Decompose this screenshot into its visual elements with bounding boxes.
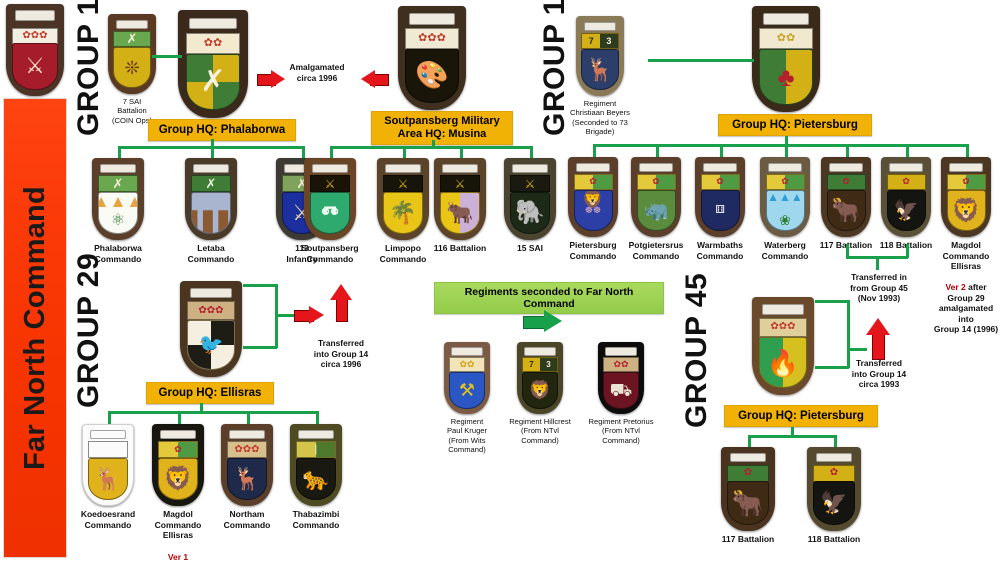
crossed-swords-icon: ⚔ [13, 44, 56, 89]
rhino-icon: 🦏 [638, 191, 675, 231]
unit-waterberg-commando: ✿ ▲▲▲ ❀ Waterberg Commando [755, 157, 815, 261]
connector-hq14-drop-5 [846, 144, 849, 157]
connector-g45-mid [847, 348, 867, 351]
shield-slot [762, 304, 804, 315]
shield-band: ✿ [766, 174, 805, 190]
protea-icon: ✿ [948, 175, 985, 189]
unit-caption: Magdol Commando Ellisras [155, 509, 202, 541]
shield-slot [949, 163, 983, 172]
flame-icon: 🔥 [760, 338, 806, 387]
shield-inner: 🐂 [440, 192, 481, 235]
unit-caption: 7 SAI Battalion (COIN Ops) [112, 97, 152, 125]
group-title-45: GROUP 45 [680, 273, 714, 428]
connector-musina-bus [330, 146, 532, 149]
unit-caption: Phalaborwa Commando [94, 243, 142, 264]
connector-g45-top [815, 300, 849, 303]
connector-hq13-drop-1 [118, 146, 121, 158]
unit-pietersburg-commando: ✿ 🦁 ☸☸ Pietersburg Commando [563, 157, 623, 261]
unit-warmbaths-commando: ✿ ⚅ Warmbaths Commando [690, 157, 750, 261]
group-title-29: GROUP 29 [72, 253, 106, 408]
unit-tail-note: Group 29 amalgamated into Group 14 (1996… [934, 293, 998, 335]
shield-inner: 🐆 [296, 458, 337, 501]
emblem-icon: ⚔ [511, 176, 550, 191]
connector-hq14-drop-6 [906, 144, 909, 157]
crossed-pickaxes-icon: ⚒ [450, 373, 484, 408]
eagle-icon: 🦅 [814, 482, 854, 524]
connector-hq14-drop-4 [785, 144, 788, 157]
hq-label-pietersburg-14: Group HQ: Pietersburg [718, 114, 872, 136]
shield-slot [816, 453, 853, 463]
unit-caption: 118 Battalion [808, 534, 860, 545]
shield-band: ❘ [296, 441, 337, 458]
rings-icon: ⚈⚈ [311, 193, 350, 234]
hq-label-musina-line2: Area HQ: Musina [380, 128, 504, 141]
connector-hq14-bus [593, 144, 968, 147]
shield-band: ✿ [637, 174, 676, 190]
unit-caption: Potgietersrus Commando [629, 240, 684, 261]
palm-tree-icon: 🌴 [384, 193, 423, 234]
connector-ellisras-drop-3 [247, 411, 250, 425]
arrow-head [309, 306, 324, 324]
unit-caption: 116 Battalion [434, 243, 486, 254]
hq-label-phalaborwa: Group HQ: Phalaborwa [148, 119, 296, 141]
buffalo-head-icon: 🐂 [441, 193, 480, 234]
protea-icon: ✿ [702, 175, 739, 189]
numeral-3: 3 [600, 34, 618, 48]
connector-musina-drop-2 [403, 146, 406, 158]
ver-suffix: after [966, 282, 987, 292]
shield-inner: 🦌 [227, 458, 268, 501]
birds-icon: 🐦 [188, 321, 234, 369]
bull-head-icon: 🐂 [828, 191, 865, 231]
arrow-head [271, 70, 285, 88]
connector-musina-drop-3 [460, 146, 463, 158]
badge-soutpansberg-hq: ✿✿✿ 🎨 [398, 6, 466, 110]
arrow-right-amalgamated [257, 70, 287, 88]
shield-slot [584, 22, 617, 31]
crossed-spears-icon: ✗ [192, 176, 231, 191]
shield-inner: 🦅 [813, 481, 855, 525]
shield-slot [193, 164, 228, 173]
shield-band: ✿✿✿ [759, 318, 807, 338]
arrow-head [330, 284, 352, 300]
unit-thabazimbi-commando: ❘ 🐆 Thabazimbi Commando [285, 424, 347, 530]
unit-regiment-hillcrest: 7 3 🦁 Regiment Hillcrest (From NTvl Comm… [507, 342, 573, 445]
shield-slot [730, 453, 767, 463]
protea-flowers-icon: ✿✿✿ [13, 29, 56, 43]
shield-inner: 🦁 ☸☸ [574, 190, 613, 232]
shield-slot [768, 163, 802, 172]
arrow-right-transfer-g29 [294, 306, 326, 324]
shield-inner: 🐦 [187, 320, 235, 370]
shield-slot [312, 164, 347, 173]
shield-band: ✿ [701, 174, 740, 190]
badge-group45-hq: ✿✿✿ 🔥 [752, 297, 814, 395]
connector-hq14-drop-3 [720, 144, 723, 157]
unit-caption: Regiment Hillcrest (From NTvl Command) [509, 417, 571, 445]
shield-inner: 🦁 [947, 190, 986, 232]
connector-hq45-bus [748, 435, 836, 438]
shield-band: ✿ [574, 174, 613, 190]
shield-inner: 🐘 [510, 192, 551, 235]
numeral-7: 7 [582, 34, 600, 48]
shield-band: ✿✿ [449, 357, 485, 372]
protea-flowers-icon: ✿✿✿ [760, 319, 806, 337]
antelope-head-icon: 🦌 [228, 459, 267, 500]
unit-caption: Regiment Pretorius (From NTvl Command) [589, 417, 654, 445]
shield-band: ✿✿ [603, 357, 639, 372]
unit-caption: 117 Battalion [722, 534, 774, 545]
shield-band: ✿✿ [759, 28, 812, 49]
shield-inner: 🦌 [581, 49, 618, 91]
unit-regiment-pretorius: ✿✿ ⛟ Regiment Pretorius (From NTvl Comma… [588, 342, 654, 445]
protea-icon: ✿ [767, 175, 804, 189]
shield-inner: 🔥 [759, 337, 807, 388]
arrow-up-transfer-g45 [866, 318, 890, 360]
arrow-right-seconded [523, 310, 565, 332]
far-north-command-banner: Far North Command [3, 98, 67, 558]
connector-g29-mid [275, 314, 295, 317]
protea-flowers-icon: ✿✿ [187, 34, 240, 53]
shield-band: 7 3 [522, 357, 558, 372]
shield-band: ✿ [158, 441, 199, 458]
shield-inner: ⚒ [449, 372, 485, 409]
shield-inner: ▁ ⚈⚈ [310, 192, 351, 235]
unit-caption: Magdol Commando Ellisras [943, 240, 990, 272]
shield-inner: ⚅ [701, 190, 740, 232]
shield-inner: ▲▲▲ ❀ [766, 190, 805, 232]
lion-passant-icon: 🦁 [523, 373, 557, 408]
shield-slot [605, 347, 636, 355]
protea-icon: ✿ [728, 466, 768, 481]
connector-hq14-drop-1 [593, 144, 596, 157]
connector-beyers-hq14 [648, 59, 754, 62]
shield-band: ✿✿✿ [227, 441, 268, 458]
unit-caption: Letaba Commando [188, 243, 235, 264]
connector-7sai-hq13 [152, 55, 182, 58]
shield-slot [189, 18, 237, 30]
emblem-icon: ⚔ [311, 176, 350, 191]
arrow-head [544, 310, 562, 332]
unit-117-battalion-g14: ✿ 🐂 117 Battalion [816, 157, 876, 251]
ver-label: Ver 2 [945, 282, 965, 292]
shield-inner: ▋▋▋ [191, 192, 232, 235]
unit-caption: Pietersburg Commando [569, 240, 616, 261]
kudu-head-icon: 🦌 [582, 50, 617, 90]
unit-magdol-commando-ellisras-v1: ✿ 🦁 Magdol Commando Ellisras Ver 1 [147, 424, 209, 563]
bull-head-icon: 🐂 [728, 482, 768, 524]
unit-caption: 15 SAI [517, 243, 543, 254]
eagle-icon: 🦅 [888, 191, 925, 231]
lion-rampant-icon: 🦁 [948, 191, 985, 231]
badge-group29-hq: ✿✿✿ 🐦 [180, 281, 242, 377]
shield-slot [639, 163, 673, 172]
shield-band: ✿✿✿ [187, 301, 235, 320]
unit-118-battalion-g14: ✿ 🦅 118 Battalion [876, 157, 936, 251]
shield-band: ✿✿✿ [405, 28, 458, 49]
connector-hq14-drop-7 [966, 144, 969, 157]
note-transferred-group45: Transferred into Group 14 circa 1993 [836, 358, 922, 390]
shield-inner: ▲▲▲ ⚛ [98, 192, 139, 235]
protea-flowers-icon: ✿✿ [450, 358, 484, 371]
shield-band: ✿ [827, 174, 866, 190]
connector-hq14-drop-2 [656, 144, 659, 157]
far-north-command-badge: ✿✿✿ ⚔ [6, 4, 64, 96]
unit-limpopo-commando: ⚔ 🌴 Limpopo Commando [374, 158, 432, 264]
note-transferred-in-from-group45: Transferred in from Group 45 (Nov 1993) [838, 272, 920, 304]
shield-band: 7 3 [581, 33, 618, 49]
shield-slot [100, 164, 135, 173]
shield-inner: 🐂 [827, 190, 866, 232]
spear-icon: ❘ [297, 442, 336, 457]
hq-label-ellisras: Group HQ: Ellisras [146, 382, 274, 404]
shield-inner: ❊ [113, 47, 150, 89]
shield-band: ✿ [887, 174, 926, 190]
unit-caption: Regiment Christiaan Beyers (Seconded to … [557, 99, 643, 137]
shield-inner: 🦅 [887, 190, 926, 232]
connector-ellisras-drop-4 [316, 411, 319, 425]
shield-band: ✗ [98, 175, 139, 192]
shield-inner: 🦁 [158, 458, 199, 501]
shield-inner: 🐂 [727, 481, 769, 525]
shield-band: ⚔ [440, 175, 481, 192]
numeral-3: 3 [540, 358, 557, 371]
unit-magdol-commando-ellisras-v2: ✿ 🦁 Magdol Commando Ellisras Ver 2 after… [932, 157, 1000, 335]
protea-icon: ✿ [575, 175, 612, 189]
crossed-spears-icon: ✗ [99, 176, 138, 191]
shield-inner: ✗ [186, 54, 241, 110]
shield-inner: ⚔ [12, 43, 57, 90]
unit-koedoesrand-commando: 🦌 Koedoesrand Commando [77, 424, 139, 530]
protea-icon: ✿ [828, 175, 865, 189]
shield-inner: ♣ [759, 49, 812, 104]
shield-inner: 🦁 [522, 372, 558, 409]
connector-ellisras-drop-2 [178, 411, 181, 425]
shield-slot [442, 164, 477, 173]
emblem-icon: ⚔ [441, 176, 480, 191]
arrow-left-amalgamated [359, 70, 389, 88]
arrow-head [866, 318, 890, 335]
shield-slot [385, 164, 420, 173]
clover-icon: ♣ [760, 50, 811, 103]
shield-inner: 🦏 [637, 190, 676, 232]
shield-slot [190, 288, 232, 299]
lion-rampant-icon: 🦁 [159, 459, 198, 500]
shield-band: ⚔ [510, 175, 551, 192]
emblem-icon: ⚔ [384, 176, 423, 191]
shield-slot [409, 13, 455, 24]
kudu-head-icon: 🦌 [89, 459, 128, 500]
unit-118-battalion-g45: ✿ 🦅 118 Battalion [803, 447, 865, 545]
shield-slot [763, 13, 809, 25]
arrow-body [872, 332, 885, 360]
shield-band: ⚔ [383, 175, 424, 192]
shield-slot [451, 347, 482, 355]
connector-hq13-drop-2 [211, 146, 214, 158]
unit-regiment-christiaan-beyers: 7 3 🦌 Regiment Christiaan Beyers (Second… [557, 16, 643, 137]
horseshoe-icon: ⛟ [604, 373, 638, 408]
connector-musina-drop-4 [530, 146, 533, 158]
hq-label-musina-line1: Soutpansberg Military [380, 115, 504, 128]
unit-regiment-paul-kruger: ✿✿ ⚒ Regiment Paul Kruger (From Wits Com… [436, 342, 498, 455]
shield-slot [229, 430, 264, 439]
connector-ellisras-drop-1 [108, 411, 111, 425]
shield-inner: 🌴 [383, 192, 424, 235]
numeral-7: 7 [523, 358, 540, 371]
connector-g29-top [243, 284, 277, 287]
protea-flowers-icon: ✿✿✿ [228, 442, 267, 457]
unit-caption: Waterberg Commando [762, 240, 809, 261]
connector-g29-bottom [243, 346, 277, 349]
unit-version-note: Ver 2 after [945, 272, 986, 293]
leopard-head-icon: 🐆 [297, 459, 336, 500]
crossed-spears-icon: ✗ [114, 32, 149, 46]
note-amalgamated: Amalgamated circa 1996 [281, 62, 353, 83]
shield-slot [512, 164, 547, 173]
arrow-up-transfer-g29 [330, 284, 352, 322]
connector-hq13-drop-3 [302, 146, 305, 158]
unit-7-sai-battalion: ✗ ❊ 7 SAI Battalion (COIN Ops) [104, 14, 160, 125]
shield-slot [116, 20, 149, 29]
note-transferred-group29: Transferred into Group 14 circa 1996 [297, 338, 385, 370]
elephant-head-icon: 🐘 [511, 193, 550, 234]
unit-soutpansberg-commando: ⚔ ▁ ⚈⚈ Soutpansberg Commando [301, 158, 359, 264]
baobab-trunks-icon: ▋▋▋ [192, 193, 231, 234]
connector-transin-stem [876, 256, 879, 270]
shield-band: ✗ [191, 175, 232, 192]
connector-musina-drop-1 [330, 146, 333, 158]
protea-flowers-icon: ✿✿✿ [406, 29, 457, 48]
unit-potgietersrus-commando: ✿ 🦏 Potgietersrus Commando [626, 157, 686, 261]
protea-icon: ✿ [814, 466, 854, 481]
crossed-spears-icon: ✗ [187, 55, 240, 109]
fountain-rings-icon: ⚅ [702, 191, 739, 231]
unit-caption: Northam Commando [224, 509, 271, 530]
shield-band: ✿ [813, 465, 855, 482]
shield-band: ⚔ [310, 175, 351, 192]
protea-flowers-icon: ✿✿ [604, 358, 638, 371]
shield-inner: ⛟ [603, 372, 639, 409]
unit-caption: Limpopo Commando [380, 243, 427, 264]
unit-version-note: Ver 1 [168, 542, 188, 563]
protea-flowers-icon: ✿✿✿ [188, 302, 234, 319]
shield-inner: 🎨 [405, 49, 458, 103]
shield-band [88, 441, 129, 458]
gear-works-icon: ⚛ [99, 193, 138, 234]
shield-slot [15, 10, 54, 20]
unit-15-sai: ⚔ 🐘 15 SAI [501, 158, 559, 254]
shield-band: ✿✿ [186, 33, 241, 54]
unit-caption: Thabazimbi Commando [293, 509, 340, 530]
group-title-13: GROUP 13 [72, 0, 106, 136]
unit-northam-commando: ✿✿✿ 🦌 Northam Commando [216, 424, 278, 530]
sheaf-emblem-icon: ❊ [114, 48, 149, 88]
shield-band: ✗ [113, 31, 150, 47]
shield-slot [829, 163, 863, 172]
giraffe-head-icon: 🎨 [406, 50, 457, 102]
badge-group13-hq: ✿✿ ✗ [178, 10, 248, 118]
unit-caption: Soutpansberg Commando [301, 243, 358, 264]
shield-slot [524, 347, 555, 355]
unit-caption: Koedoesrand Commando [81, 509, 135, 530]
shield-slot [576, 163, 610, 172]
arrow-head [361, 70, 375, 88]
protea-icon: ✿ [888, 175, 925, 189]
connector-ellisras-bus [108, 411, 318, 414]
far-north-command-banner-label: Far North Command [4, 99, 66, 557]
unit-letaba-commando: ✗ ▋▋▋ Letaba Commando [183, 158, 239, 264]
protea-icon: ✿ [638, 175, 675, 189]
unit-caption: Warmbaths Commando [697, 240, 744, 261]
unit-phalaborwa-commando: ✗ ▲▲▲ ⚛ Phalaborwa Commando [90, 158, 146, 264]
hq-label-pietersburg-45: Group HQ: Pietersburg [724, 405, 878, 427]
unit-116-battalion: ⚔ 🐂 116 Battalion [431, 158, 489, 254]
protea-icon: ✿ [159, 442, 198, 457]
shield-slot [160, 430, 195, 439]
shield-inner: 🦌 [88, 458, 129, 501]
shield-band: ✿✿✿ [12, 28, 57, 44]
badge-group14-hq: ✿✿ ♣ [752, 6, 820, 112]
unit-caption: Regiment Paul Kruger (From Wits Command) [447, 417, 487, 455]
roundels-icon: ☸☸ [575, 191, 612, 231]
hq-label-musina: Soutpansberg Military Area HQ: Musina [371, 111, 513, 145]
shield-slot [298, 430, 333, 439]
protea-flowers-icon: ✿✿ [760, 29, 811, 48]
shield-slot [889, 163, 923, 172]
shield-band: ✿ [727, 465, 769, 482]
shield-slot [703, 163, 737, 172]
shield-slot [90, 430, 125, 439]
flower-icon: ❀ [767, 191, 804, 231]
shield-band: ✿ [947, 174, 986, 190]
unit-117-battalion-g45: ✿ 🐂 117 Battalion [717, 447, 779, 545]
